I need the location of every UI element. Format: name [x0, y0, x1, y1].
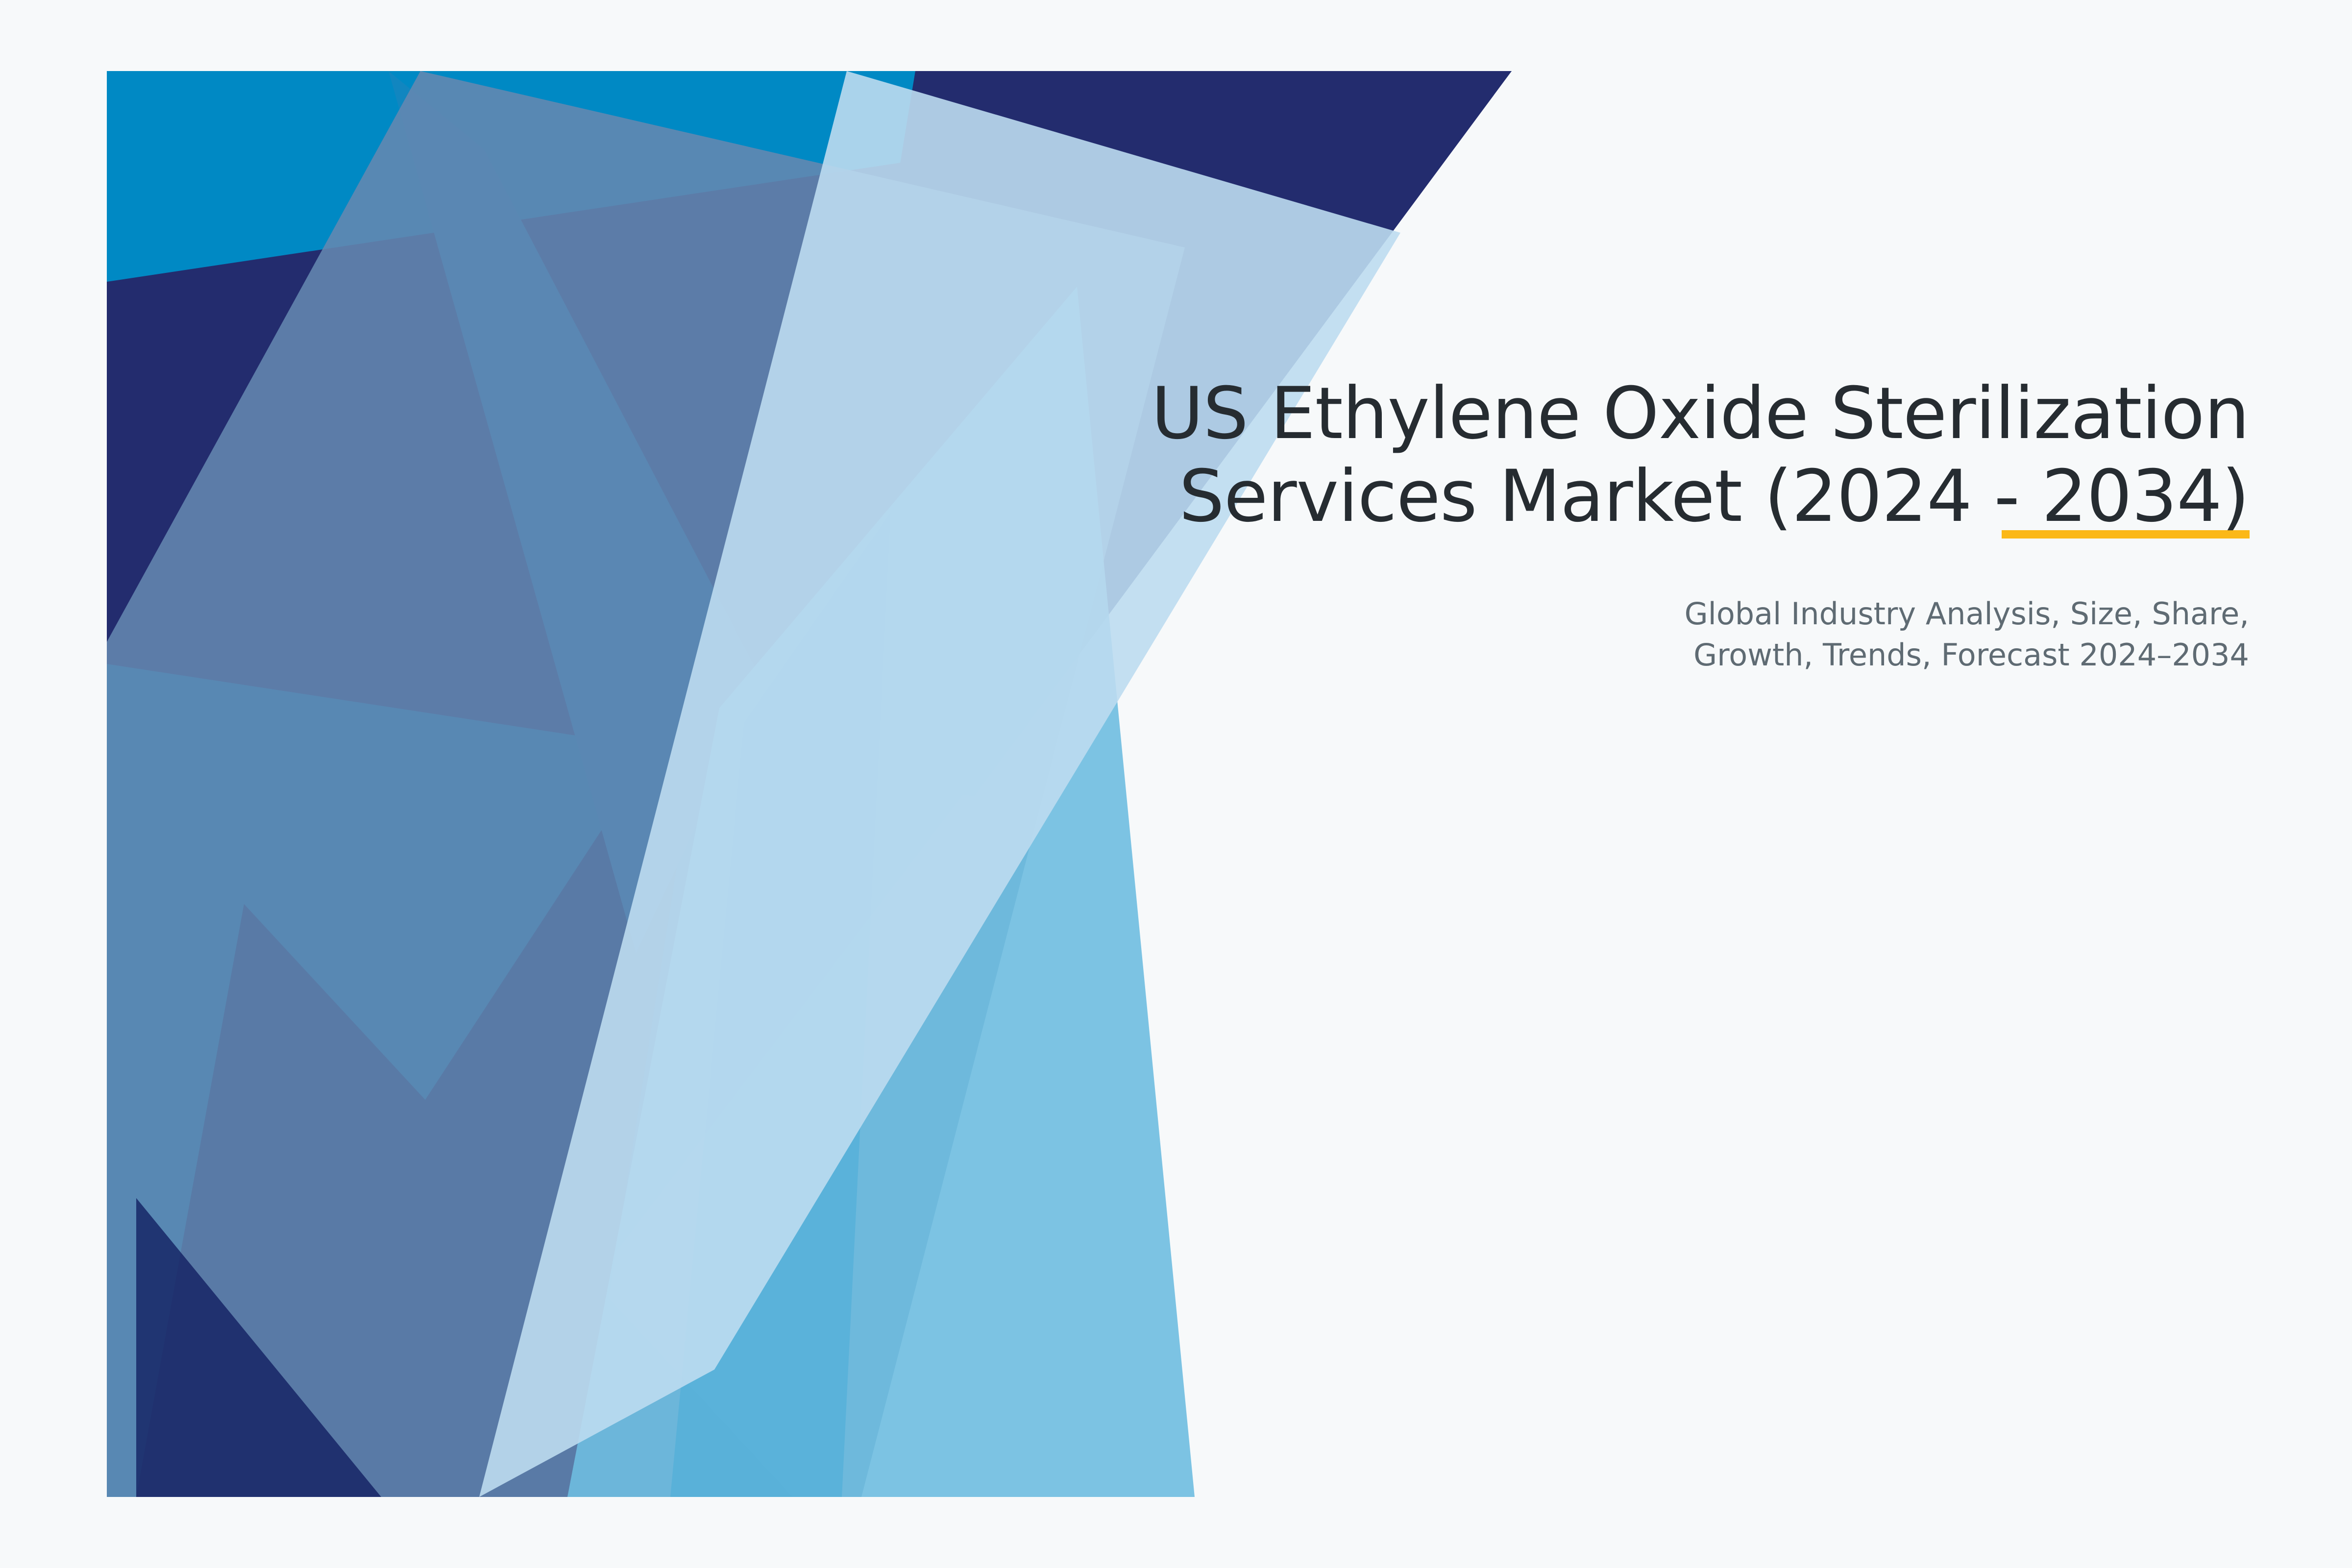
cover-text-block: US Ethylene Oxide Sterilization Services… — [980, 372, 2249, 676]
page-subtitle: Global Industry Analysis, Size, Share, G… — [980, 593, 2249, 676]
abstract-geometric-graphic — [107, 71, 1512, 1497]
report-cover: US Ethylene Oxide Sterilization Services… — [0, 0, 2352, 1568]
cover-artwork — [107, 71, 1512, 1497]
page-title: US Ethylene Oxide Sterilization Services… — [980, 372, 2249, 539]
artwork-shape-group — [107, 71, 1512, 1497]
